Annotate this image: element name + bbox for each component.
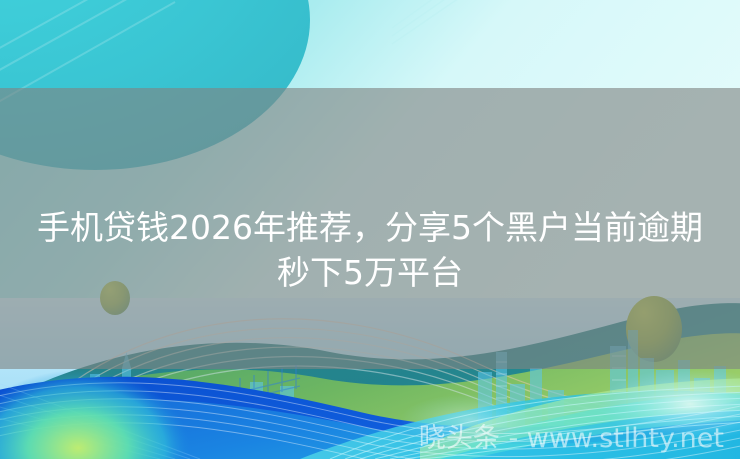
page-title: 手机贷钱2026年推荐，分享5个黑户当前逾期秒下5万平台 [0,205,740,295]
poster-canvas: 手机贷钱2026年推荐，分享5个黑户当前逾期秒下5万平台 晓头条 - www.s… [0,0,740,459]
site-watermark: 晓头条 - www.stlhty.net [0,423,740,455]
